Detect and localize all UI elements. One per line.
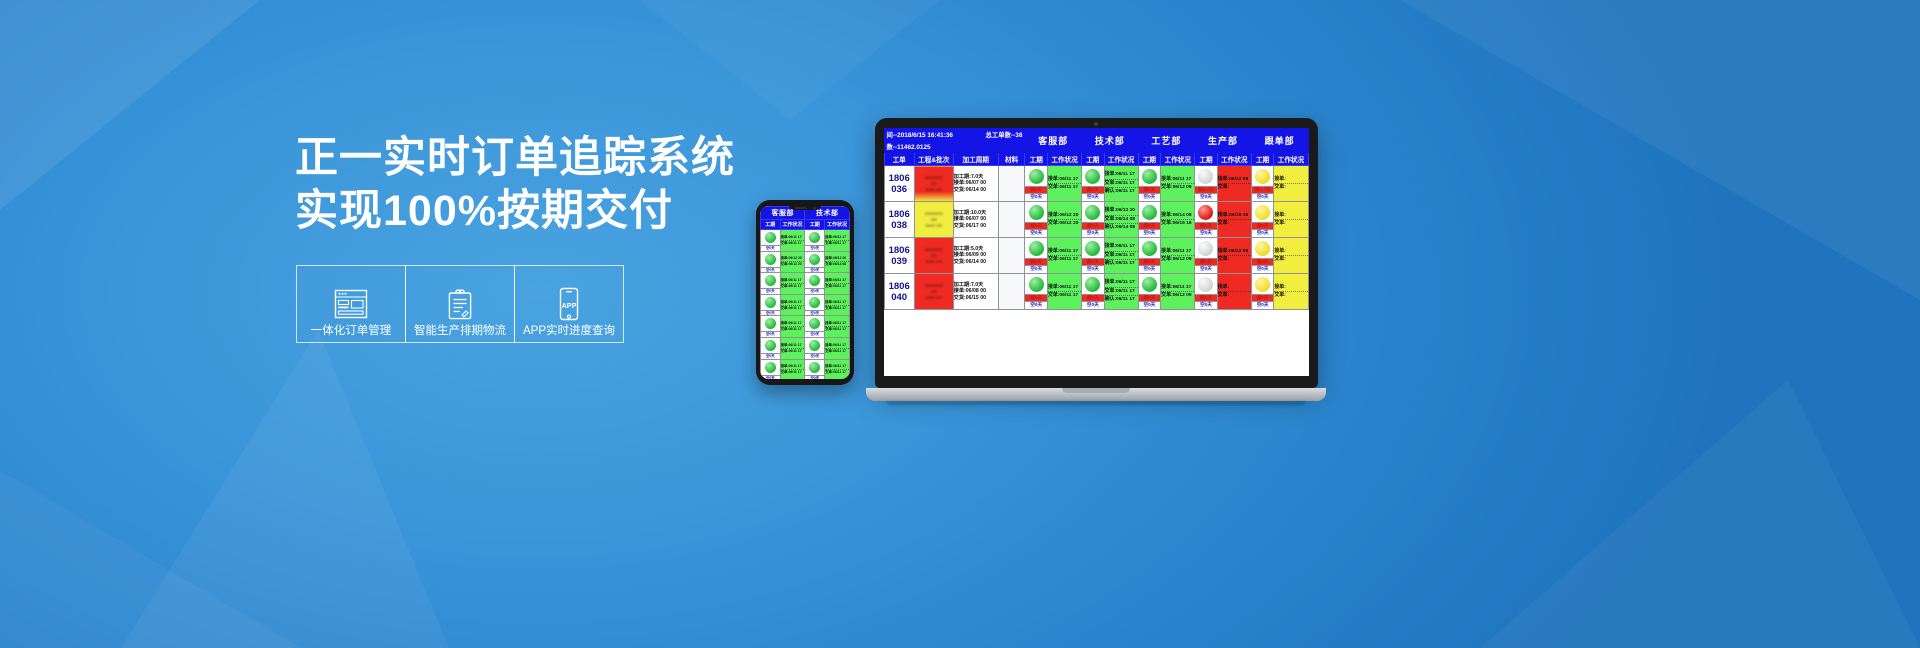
laptop-lid: 间--2018/6/15 16:41:36 总工单数--38 客服部 技术部 工… [875, 118, 1318, 388]
work-status-line: 接单:06/12 20 [1105, 207, 1138, 215]
phone-table-row[interactable]: 空0天接单:06/12 20交单:06/12 20空0天接单:06/12 20交… [761, 251, 850, 273]
overdue-tag: 超0天 [1082, 294, 1104, 301]
phone-work-status-line: 交单:06/11 17 [825, 306, 849, 311]
phone-work-status-cell[interactable]: 接单:06/11 17交单:06/11 17 [780, 294, 805, 316]
phone-status-duration-cell[interactable]: 空0天 [805, 359, 825, 379]
material-cell[interactable] [998, 166, 1025, 202]
meta-header-row: 间--2018/6/15 16:41:36 总工单数--38 客服部 技术部 工… [884, 129, 1308, 141]
status-dot-green [1085, 277, 1100, 292]
work-status-line: 接单:06/12 20 [1048, 212, 1081, 220]
overdue-tag: 超0天 [1139, 258, 1161, 265]
work-status-line: 交单:06/11 17 [1048, 292, 1081, 299]
phone-order-table[interactable]: 客服部 技术部 工期 工作状况 工期 工作状况 空0天接单:06/11 17交单… [760, 206, 850, 379]
phone-status-dot-green [765, 362, 776, 373]
feature-label-group: 一体化订单管理 智能生产排期物流 APP实时进度查询 [296, 322, 623, 338]
project-batch-cell[interactable]: ■■■■■■■■■■■ ■■ [914, 202, 953, 238]
idle-tag: 空0天 [1139, 229, 1161, 236]
work-status-line: 确认:06/11 17 [1105, 296, 1138, 303]
work-order-cell[interactable]: 1806039 [884, 238, 914, 274]
status-dot-green [1085, 241, 1100, 256]
phone-work-status-line: 交单:06/14 08 [825, 262, 849, 267]
status-dot-yellow [1255, 277, 1270, 292]
col-header-dept0-status: 工作状况 [1047, 153, 1081, 166]
phone-work-status-line: 交单:06/12 20 [781, 262, 805, 267]
work-status-cell[interactable]: 接单:06/12 09交单: [1217, 166, 1251, 202]
work-status-line: 确认:06/11 17 [1105, 188, 1138, 195]
work-status-line: 交单:06/15 16 [1161, 220, 1194, 227]
cycle-line: 接单:06/08 00 [954, 288, 998, 295]
idle-tag: 空0天 [1252, 193, 1274, 200]
phone-screen[interactable]: 客服部 技术部 工期 工作状况 工期 工作状况 空0天接单:06/11 17交单… [760, 206, 850, 379]
status-dot-yellow [1255, 169, 1270, 184]
work-status-line: 交单: [1274, 220, 1307, 227]
status-dot-green [1029, 277, 1044, 292]
work-status-line: 交单:06/14 08 [1105, 216, 1138, 224]
overdue-tag: 超0天 [1195, 222, 1217, 229]
clipboard-icon [445, 284, 475, 324]
status-dot-green [1029, 205, 1044, 220]
phone-subcol-duration-1: 工期 [805, 220, 825, 230]
phone-subheader-row: 工期 工作状况 工期 工作状况 [761, 220, 850, 230]
work-order-suffix: 036 [885, 184, 914, 195]
material-cell[interactable] [998, 202, 1025, 238]
dept-header-3: 生产部 [1195, 129, 1252, 153]
work-status-cell[interactable]: 接单:06/12 20交单:06/12 20 [1047, 202, 1081, 238]
laptop-base-shadow [886, 401, 1306, 405]
phone-status-dot-green [765, 275, 776, 286]
work-status-cell[interactable]: 接单:交单: [1217, 274, 1251, 310]
overdue-tag: 超0天 [1139, 186, 1161, 193]
work-status-line: 接单:06/12 09 [1218, 248, 1251, 256]
overdue-tag: 超0天 [1252, 258, 1274, 265]
idle-tag: 空0天 [1195, 301, 1217, 308]
idle-tag: 空0天 [1139, 193, 1161, 200]
phone-idle-tag: 空0天 [761, 245, 780, 251]
feature-label-order-management: 一体化订单管理 [296, 322, 406, 338]
work-order-cell[interactable]: 1806040 [884, 274, 914, 310]
work-status-line: 交单: [1218, 256, 1251, 263]
phone-notch [789, 205, 821, 210]
phone-status-dot-green [765, 297, 776, 308]
overdue-tag: 超0天 [1252, 294, 1274, 301]
cycle-line: 交货:06/17 00 [954, 223, 998, 230]
work-status-line: 接单: [1274, 248, 1307, 256]
app-icon-text: APP [562, 301, 577, 310]
dept-header-1: 技术部 [1082, 129, 1139, 153]
work-status-cell[interactable]: 接单:06/11 17交单:06/11 17 [1047, 166, 1081, 202]
phone-idle-tag: 空0天 [805, 353, 824, 359]
cycle-line: 接单:06/07 00 [954, 180, 998, 187]
phone-work-status-cell[interactable]: 接单:06/11 17交单:06/11 17 [825, 273, 850, 295]
status-duration-cell[interactable]: 超3.7天空0天 [1251, 166, 1274, 202]
status-dot-gray [1198, 277, 1213, 292]
status-duration-cell[interactable]: 超0天空0天 [1251, 238, 1274, 274]
phone-work-status-cell[interactable]: 接单:06/11 17交单:06/11 17 [825, 294, 850, 316]
status-dot-green [1142, 241, 1157, 256]
phone-status-dot-green [809, 340, 820, 351]
phone-status-duration-cell[interactable]: 空0天 [805, 294, 825, 316]
work-order-prefix: 1806 [885, 281, 914, 292]
phone-work-status-cell[interactable]: 接单:06/11 17交单:06/11 17 [825, 230, 850, 252]
work-status-line: 交单:06/12 20 [1048, 220, 1081, 227]
phone-idle-tag: 空0天 [805, 331, 824, 337]
phone-status-duration-cell[interactable]: 空0天 [761, 294, 781, 316]
processing-cycle-cell[interactable]: 加工期:7.0天接单:06/08 00交货:06/15 00 [953, 274, 998, 310]
material-cell[interactable] [998, 274, 1025, 310]
work-status-line: 接单:06/11 17 [1048, 176, 1081, 184]
laptop-screen[interactable]: 间--2018/6/15 16:41:36 总工单数--38 客服部 技术部 工… [884, 128, 1309, 376]
phone-table-body: 空0天接单:06/11 17交单:06/11 17空0天接单:06/11 17交… [761, 230, 850, 380]
work-status-line: 交单:06/12 09 [1161, 256, 1194, 263]
status-duration-cell[interactable]: 超0天空0天 [1025, 166, 1048, 202]
status-dot-green [1085, 169, 1100, 184]
work-status-line: 交单:06/11 17 [1048, 184, 1081, 191]
work-status-cell[interactable]: 接单:交单: [1274, 166, 1308, 202]
work-status-line: 接单:06/11 17 [1161, 176, 1194, 184]
phone-table-row[interactable]: 空0天接单:06/11 17交单:06/11 17空0天接单:06/11 17交… [761, 294, 850, 316]
work-order-suffix: 038 [885, 220, 914, 231]
phone-table-row[interactable]: 空0天接单:06/11 17交单:06/11 17空0天接单:06/11 17交… [761, 230, 850, 252]
col-header-dept3-duration: 工期 [1195, 153, 1218, 166]
phone-status-duration-cell[interactable]: 空0天 [761, 337, 781, 359]
hero-copy: 正一实时订单追踪系统 实现100%按期交付 [295, 132, 735, 238]
phone-idle-tag: 空0天 [805, 245, 824, 251]
headline-line-1: 正一实时订单追踪系统 [295, 132, 735, 185]
feature-label-production-scheduling: 智能生产排期物流 [405, 322, 515, 338]
status-duration-cell[interactable]: 超0天空0天 [1082, 238, 1105, 274]
phone-work-status-line: 交单:06/11 17 [781, 370, 805, 375]
status-duration-cell[interactable]: 超0天空0天 [1195, 238, 1218, 274]
status-duration-cell[interactable]: 超0天空0天 [1195, 274, 1218, 310]
dept-header-4: 跟单部 [1251, 129, 1308, 153]
cycle-line: 接单:06/09 00 [954, 252, 998, 259]
col-header-dept3-status: 工作状况 [1217, 153, 1251, 166]
cycle-line: 接单:06/07 00 [954, 216, 998, 223]
work-status-cell[interactable]: 接单:06/11 17交单:06/11 17确认:06/11 17 [1104, 238, 1138, 274]
cycle-line: 交货:06/14 00 [954, 187, 998, 194]
work-status-cell[interactable]: 接单:06/12 20交单:06/14 08确认:06/14 08 [1104, 202, 1138, 238]
mobile-app-icon: APP [557, 284, 581, 324]
work-status-line: 交单:06/11 17 [1048, 256, 1081, 263]
col-header-dept4-status: 工作状况 [1274, 153, 1308, 166]
headline-line-2: 实现100%按期交付 [295, 185, 735, 238]
dept-header-0: 客服部 [1025, 129, 1082, 153]
status-dot-gray [1198, 241, 1213, 256]
overdue-tag: 超0天 [1139, 294, 1161, 301]
work-status-cell[interactable]: 接单:06/14 08交单:06/15 16 [1161, 202, 1195, 238]
phone-status-dot-green [765, 254, 776, 265]
work-status-cell[interactable]: 接单:06/11 17交单:06/11 17 [1047, 274, 1081, 310]
work-status-cell[interactable]: 接单:交单: [1274, 238, 1308, 274]
idle-tag: 空0天 [1082, 193, 1104, 200]
phone-status-duration-cell[interactable]: 空0天 [805, 230, 825, 252]
status-dot-green [1142, 169, 1157, 184]
phone-work-status-cell[interactable]: 接单:06/11 17交单:06/11 17 [825, 359, 850, 379]
material-cell[interactable] [998, 238, 1025, 274]
status-duration-cell[interactable]: 超0天空0天 [1025, 202, 1048, 238]
table-row[interactable]: 1806038■■■■■■■■■■■ ■■加工期:10.0天接单:06/07 0… [884, 202, 1308, 238]
work-order-suffix: 039 [885, 256, 914, 267]
col-header-cycle: 加工周期 [953, 153, 998, 166]
work-status-line: 交单: [1274, 184, 1307, 191]
col-header-dept2-status: 工作状况 [1161, 153, 1195, 166]
work-order-cell[interactable]: 1806038 [884, 202, 914, 238]
work-status-line: 交单:06/12 09 [1161, 292, 1194, 299]
work-status-line: 交单: [1274, 256, 1307, 263]
work-status-cell[interactable]: 接单:06/11 17交单:06/12 09 [1161, 166, 1195, 202]
work-status-line: 接单:06/11 17 [1105, 279, 1138, 287]
table-row[interactable]: 1806036■■■■■■■■■■■ ■■加工期:7.0天接单:06/07 00… [884, 166, 1308, 202]
idle-tag: 空0天 [1082, 229, 1104, 236]
table-row[interactable]: 1806039■■■■■■■■■■■ ■■加工期:5.0天接单:06/09 00… [884, 238, 1308, 274]
status-dot-green [1142, 205, 1157, 220]
project-batch-cell[interactable]: ■■■■■■■■■■■ ■■ [914, 166, 953, 202]
work-status-line: 接单:06/14 08 [1161, 212, 1194, 220]
phone-status-dot-green [809, 362, 820, 373]
status-duration-cell[interactable]: 超2.7天空0天 [1195, 166, 1218, 202]
idle-tag: 空0天 [1252, 229, 1274, 236]
laptop-base [866, 388, 1326, 401]
dashboard-icon [334, 284, 368, 324]
idle-tag: 空0天 [1025, 301, 1047, 308]
col-header-dept1-status: 工作状况 [1104, 153, 1138, 166]
idle-tag: 空0天 [1139, 301, 1161, 308]
work-status-line: 接单:06/11 17 [1048, 284, 1081, 292]
phone-status-duration-cell[interactable]: 空0天 [761, 230, 781, 252]
col-header-work-order: 工单 [884, 153, 914, 166]
phone-status-duration-cell[interactable]: 空0天 [761, 316, 781, 338]
phone-status-dot-green [809, 318, 820, 329]
feature-label-app-query: APP实时进度查询 [514, 322, 624, 338]
phone-idle-tag: 空0天 [761, 267, 780, 273]
overdue-tag: 超0天 [1082, 222, 1104, 229]
work-status-line: 交单:06/11 17 [1105, 180, 1138, 188]
work-status-cell[interactable]: 接单:06/12 09交单: [1217, 238, 1251, 274]
phone-status-duration-cell[interactable]: 空0天 [761, 273, 781, 295]
phone-idle-tag: 空0天 [761, 288, 780, 294]
status-dot-green [1029, 241, 1044, 256]
status-duration-cell[interactable]: 超0天空0天 [1138, 166, 1161, 202]
work-status-cell[interactable]: 接单:06/11 17交单:06/11 17确认:06/11 17 [1104, 274, 1138, 310]
work-status-line: 接单:06/12 09 [1218, 176, 1251, 184]
meta-time: 间--2018/6/15 16:41:36 [884, 129, 953, 141]
overdue-tag: 超0天 [1025, 186, 1047, 193]
phone-subcol-status-1: 工作状况 [825, 220, 850, 230]
phone-work-status-line: 交单:06/11 17 [781, 306, 805, 311]
phone-status-dot-green [809, 254, 820, 265]
work-status-cell[interactable]: 接单:交单: [1274, 202, 1308, 238]
work-status-line: 接单:06/11 17 [1105, 243, 1138, 251]
phone-status-duration-cell[interactable]: 空0天 [805, 316, 825, 338]
project-batch-cell[interactable]: ■■■■■■■■■■■ ■■ [914, 274, 953, 310]
phone-work-status-line: 交单:06/11 17 [825, 370, 849, 375]
work-status-line: 交单:06/12 09 [1161, 184, 1194, 191]
work-status-cell[interactable]: 接单:06/11 17交单:06/12 09 [1161, 238, 1195, 274]
phone-table-row[interactable]: 空0天接单:06/11 17交单:06/11 17空0天接单:06/11 17交… [761, 359, 850, 379]
status-duration-cell[interactable]: 超0天空0天 [1138, 202, 1161, 238]
overdue-tag: 超2.7天 [1195, 186, 1217, 193]
overdue-tag: 超0天 [1082, 186, 1104, 193]
table-row[interactable]: 1806040■■■■■■■■■■■ ■■加工期:7.0天接单:06/08 00… [884, 274, 1308, 310]
phone-idle-tag: 空0天 [805, 267, 824, 273]
cycle-line: 交货:06/14 00 [954, 259, 998, 266]
status-duration-cell[interactable]: 超0天空0天 [1082, 274, 1105, 310]
status-duration-cell[interactable]: 超0天空0天 [1195, 202, 1218, 238]
work-status-cell[interactable]: 接单:06/11 17交单:06/12 09 [1161, 274, 1195, 310]
work-status-line: 交单: [1218, 220, 1251, 227]
idle-tag: 空0天 [1252, 301, 1274, 308]
phone-body: 客服部 技术部 工期 工作状况 工期 工作状况 空0天接单:06/11 17交单… [756, 200, 854, 385]
phone-work-status-cell[interactable]: 接单:06/11 17交单:06/11 17 [780, 230, 805, 252]
work-status-line: 交单:06/11 17 [1105, 288, 1138, 296]
banner-stage: 正一实时订单追踪系统 实现100%按期交付 [0, 0, 1920, 648]
status-duration-cell[interactable]: 超0天空0天 [1025, 274, 1048, 310]
status-dot-yellow [1255, 241, 1270, 256]
phone-status-duration-cell[interactable]: 空0天 [805, 273, 825, 295]
work-order-prefix: 1806 [885, 245, 914, 256]
phone-work-status-line: 交单:06/11 17 [781, 241, 805, 246]
overdue-tag: 超0天 [1025, 258, 1047, 265]
phone-work-status-line: 交单:06/11 17 [781, 327, 805, 332]
phone-idle-tag: 空0天 [805, 375, 824, 379]
phone-status-dot-green [809, 232, 820, 243]
work-status-line: 接单: [1218, 284, 1251, 292]
overdue-tag: 超0天 [1025, 294, 1047, 301]
work-status-line: 接单:06/15 16 [1218, 212, 1251, 220]
work-order-prefix: 1806 [885, 209, 914, 220]
work-status-line: 接单: [1274, 212, 1307, 220]
idle-tag: 空0天 [1025, 265, 1047, 272]
phone-status-dot-green [765, 318, 776, 329]
overdue-tag: 超0天 [1195, 258, 1217, 265]
work-status-cell[interactable]: 接单:交单: [1274, 274, 1308, 310]
meta-number: 数--11462.0125 [884, 141, 953, 153]
work-order-cell[interactable]: 1806036 [884, 166, 914, 202]
work-status-cell[interactable]: 接单:06/15 16交单: [1217, 202, 1251, 238]
status-dot-green [1085, 205, 1100, 220]
phone-idle-tag: 空0天 [805, 310, 824, 316]
phone-work-status-line: 交单:06/11 17 [781, 349, 805, 354]
col-header-dept0-duration: 工期 [1025, 153, 1048, 166]
col-header-dept1-duration: 工期 [1082, 153, 1105, 166]
phone-work-status-line: 交单:06/11 17 [781, 284, 805, 289]
status-duration-cell[interactable]: 超0天空0天 [1082, 202, 1105, 238]
phone-work-status-line: 交单:06/11 17 [825, 241, 849, 246]
phone-status-duration-cell[interactable]: 空0天 [761, 251, 781, 273]
work-status-line: 确认:06/14 08 [1105, 224, 1138, 231]
phone-status-dot-green [765, 232, 776, 243]
processing-cycle-cell[interactable]: 加工期:5.0天接单:06/09 00交货:06/14 00 [953, 238, 998, 274]
idle-tag: 空0天 [1082, 301, 1104, 308]
col-header-dept2-duration: 工期 [1138, 153, 1161, 166]
status-dot-red [1198, 205, 1213, 220]
phone-status-dot-green [765, 340, 776, 351]
phone-status-dot-green [809, 297, 820, 308]
order-table-body: 1806036■■■■■■■■■■■ ■■加工期:7.0天接单:06/07 00… [884, 166, 1308, 310]
overdue-tag: 超0天 [1139, 222, 1161, 229]
phone-table-row[interactable]: 空0天接单:06/11 17交单:06/11 17空0天接单:06/11 17交… [761, 337, 850, 359]
phone-work-status-cell[interactable]: 接单:06/12 20交单:06/12 20 [780, 251, 805, 273]
col-header-dept4-duration: 工期 [1251, 153, 1274, 166]
work-status-line: 交单: [1274, 292, 1307, 299]
phone-table-row[interactable]: 空0天接单:06/11 17交单:06/11 17空0天接单:06/11 17交… [761, 316, 850, 338]
project-batch-cell[interactable]: ■■■■■■■■■■■ ■■ [914, 238, 953, 274]
dept-header-2: 工艺部 [1138, 129, 1195, 153]
phone-idle-tag: 空0天 [805, 288, 824, 294]
phone-device: 客服部 技术部 工期 工作状况 工期 工作状况 空0天接单:06/11 17交单… [756, 200, 854, 385]
work-status-line: 接单:06/11 17 [1161, 248, 1194, 256]
idle-tag: 空0天 [1195, 229, 1217, 236]
work-status-line: 确认:06/11 17 [1105, 260, 1138, 267]
phone-status-duration-cell[interactable]: 空0天 [805, 251, 825, 273]
phone-status-duration-cell[interactable]: 空0天 [761, 359, 781, 379]
status-duration-cell[interactable]: 超0天空0天 [1138, 238, 1161, 274]
phone-idle-tag: 空0天 [761, 310, 780, 316]
phone-work-status-cell[interactable]: 接单:06/11 17交单:06/11 17 [780, 316, 805, 338]
overdue-tag: 超0天 [1082, 258, 1104, 265]
laptop-device: 间--2018/6/15 16:41:36 总工单数--38 客服部 技术部 工… [866, 118, 1326, 405]
work-order-suffix: 040 [885, 292, 914, 303]
phone-work-status-cell[interactable]: 接单:06/11 17交单:06/11 17 [825, 316, 850, 338]
overdue-tag: 超0天 [1025, 222, 1047, 229]
idle-tag: 空0天 [1139, 265, 1161, 272]
overdue-tag: 超0天 [1195, 294, 1217, 301]
overdue-tag: 超3.7天 [1252, 186, 1274, 193]
idle-tag: 空0天 [1025, 229, 1047, 236]
status-duration-cell[interactable]: 超0天空0天 [1138, 274, 1161, 310]
phone-work-status-cell[interactable]: 接单:06/12 20交单:06/14 08 [825, 251, 850, 273]
phone-work-status-cell[interactable]: 接单:06/11 17交单:06/11 17 [825, 337, 850, 359]
processing-cycle-cell[interactable]: 加工期:10.0天接单:06/07 00交货:06/17 00 [953, 202, 998, 238]
work-status-line: 交单:06/11 17 [1105, 252, 1138, 260]
col-header-material: 材料 [998, 153, 1025, 166]
col-header-project-batch: 工程&批次 [914, 153, 953, 166]
phone-idle-tag: 空0天 [761, 353, 780, 359]
idle-tag: 空0天 [1195, 193, 1217, 200]
work-status-line: 交单: [1218, 184, 1251, 191]
idle-tag: 空0天 [1252, 265, 1274, 272]
phone-work-status-cell[interactable]: 接单:06/11 17交单:06/11 17 [780, 359, 805, 379]
idle-tag: 空0天 [1025, 193, 1047, 200]
status-duration-cell[interactable]: 超0天空0天 [1025, 238, 1048, 274]
work-status-cell[interactable]: 接单:06/11 17交单:06/11 17确认:06/11 17 [1104, 166, 1138, 202]
cycle-line: 交货:06/15 00 [954, 295, 998, 302]
phone-idle-tag: 空0天 [761, 375, 780, 379]
status-dot-yellow [1255, 205, 1270, 220]
idle-tag: 空0天 [1082, 265, 1104, 272]
phone-status-duration-cell[interactable]: 空0天 [805, 337, 825, 359]
phone-work-status-line: 交单:06/11 17 [825, 284, 849, 289]
status-dot-gray [1198, 169, 1213, 184]
phone-idle-tag: 空0天 [761, 331, 780, 337]
work-status-cell[interactable]: 接单:06/11 17交单:06/11 17 [1047, 238, 1081, 274]
work-status-line: 交单: [1218, 292, 1251, 299]
order-tracking-table[interactable]: 间--2018/6/15 16:41:36 总工单数--38 客服部 技术部 工… [884, 128, 1309, 310]
phone-work-status-cell[interactable]: 接单:06/11 17交单:06/11 17 [780, 273, 805, 295]
status-duration-cell[interactable]: 超0天空0天 [1251, 202, 1274, 238]
work-status-line: 接单: [1274, 176, 1307, 184]
status-dot-green [1142, 277, 1157, 292]
phone-work-status-cell[interactable]: 接单:06/11 17交单:06/11 17 [780, 337, 805, 359]
phone-table-row[interactable]: 空0天接单:06/11 17交单:06/11 17空0天接单:06/11 17交… [761, 273, 850, 295]
status-duration-cell[interactable]: 超0天空0天 [1082, 166, 1105, 202]
phone-work-status-line: 交单:06/11 17 [825, 349, 849, 354]
work-order-prefix: 1806 [885, 173, 914, 184]
status-duration-cell[interactable]: 超0天空0天 [1251, 274, 1274, 310]
processing-cycle-cell[interactable]: 加工期:7.0天接单:06/07 00交货:06/14 00 [953, 166, 998, 202]
work-status-line: 接单:06/11 17 [1105, 171, 1138, 179]
phone-subcol-status-0: 工作状况 [780, 220, 805, 230]
